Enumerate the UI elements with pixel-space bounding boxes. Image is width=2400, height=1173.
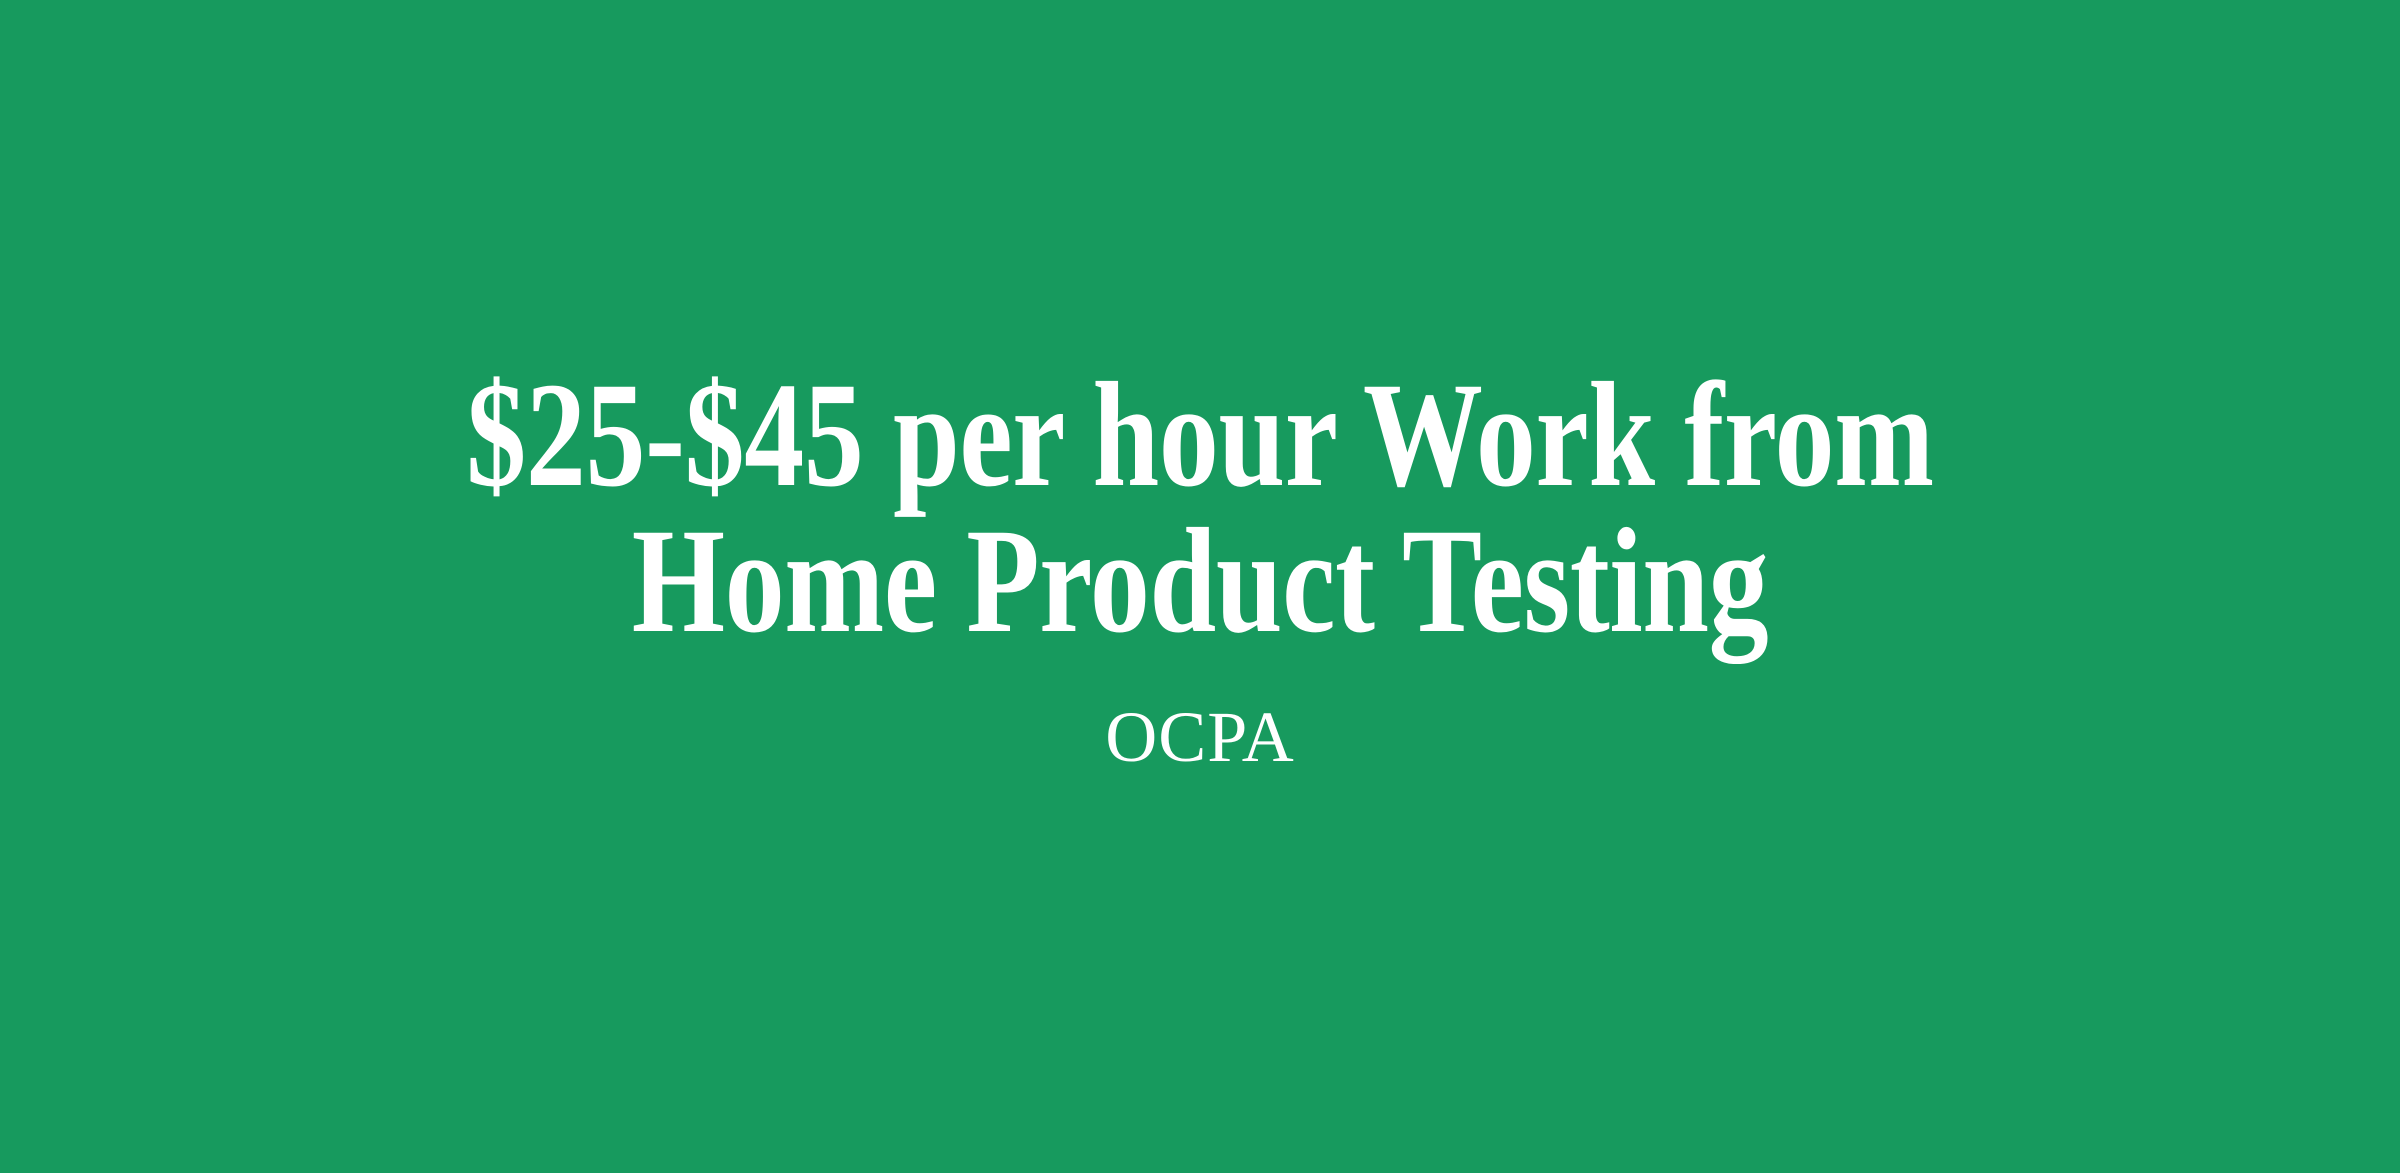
page-title: $25-$45 per hour Work from Home Product … — [40, 362, 2360, 654]
card-subtitle: OCPA — [1105, 698, 1294, 776]
share-card: $25-$45 per hour Work from Home Product … — [0, 0, 2400, 1173]
card-content-block: $25-$45 per hour Work from Home Product … — [0, 362, 2400, 776]
